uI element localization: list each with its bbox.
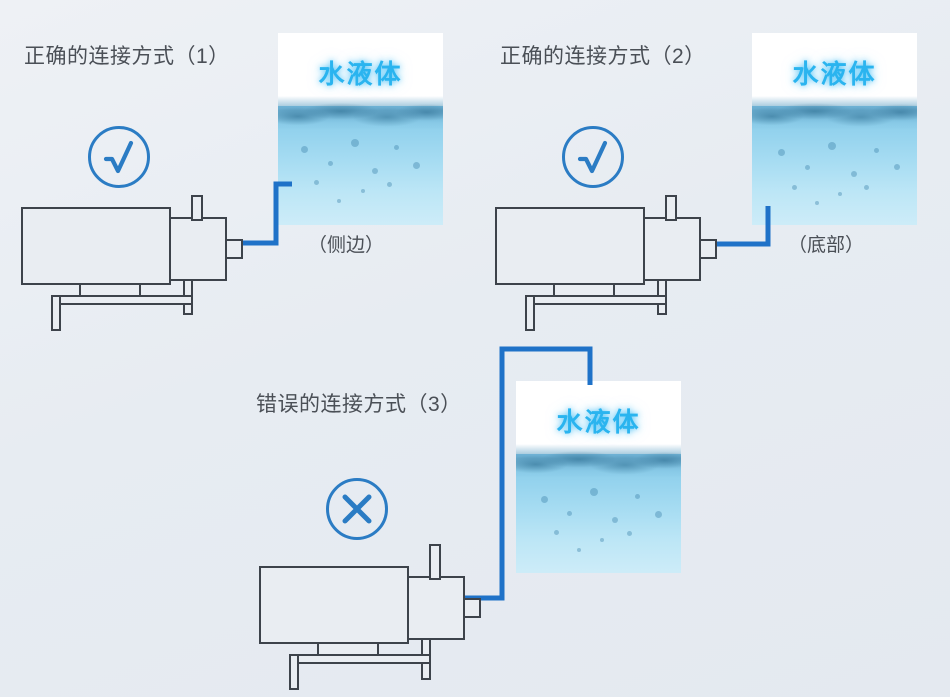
- pipe-3: [460, 345, 640, 605]
- water-tank-1: 水液体: [278, 33, 443, 225]
- water-surface-2: [752, 96, 917, 130]
- water-body-1: [278, 106, 443, 225]
- panel-3-title: 错误的连接方式（3）: [256, 388, 462, 418]
- panel-1-title: 正确的连接方式（1）: [24, 40, 230, 70]
- pump-assembly-2: [492, 196, 712, 306]
- pump-assembly-1: [18, 196, 238, 306]
- water-tank-2: 水液体: [752, 33, 917, 225]
- diagram-canvas: 正确的连接方式（1） 水液体 （侧边）: [0, 0, 950, 697]
- panel-2-title: 正确的连接方式（2）: [500, 40, 706, 70]
- tank-caption-2: （底部）: [788, 230, 864, 257]
- tank-caption-1: （侧边）: [308, 230, 384, 257]
- tank-label-1: 水液体: [278, 54, 443, 91]
- check-circle-icon: [88, 126, 150, 188]
- cross-circle-icon: [326, 478, 388, 540]
- pump-assembly-3: [256, 545, 476, 675]
- tank-label-2: 水液体: [752, 54, 917, 91]
- check-circle-icon: [562, 126, 624, 188]
- water-surface-1: [278, 96, 443, 130]
